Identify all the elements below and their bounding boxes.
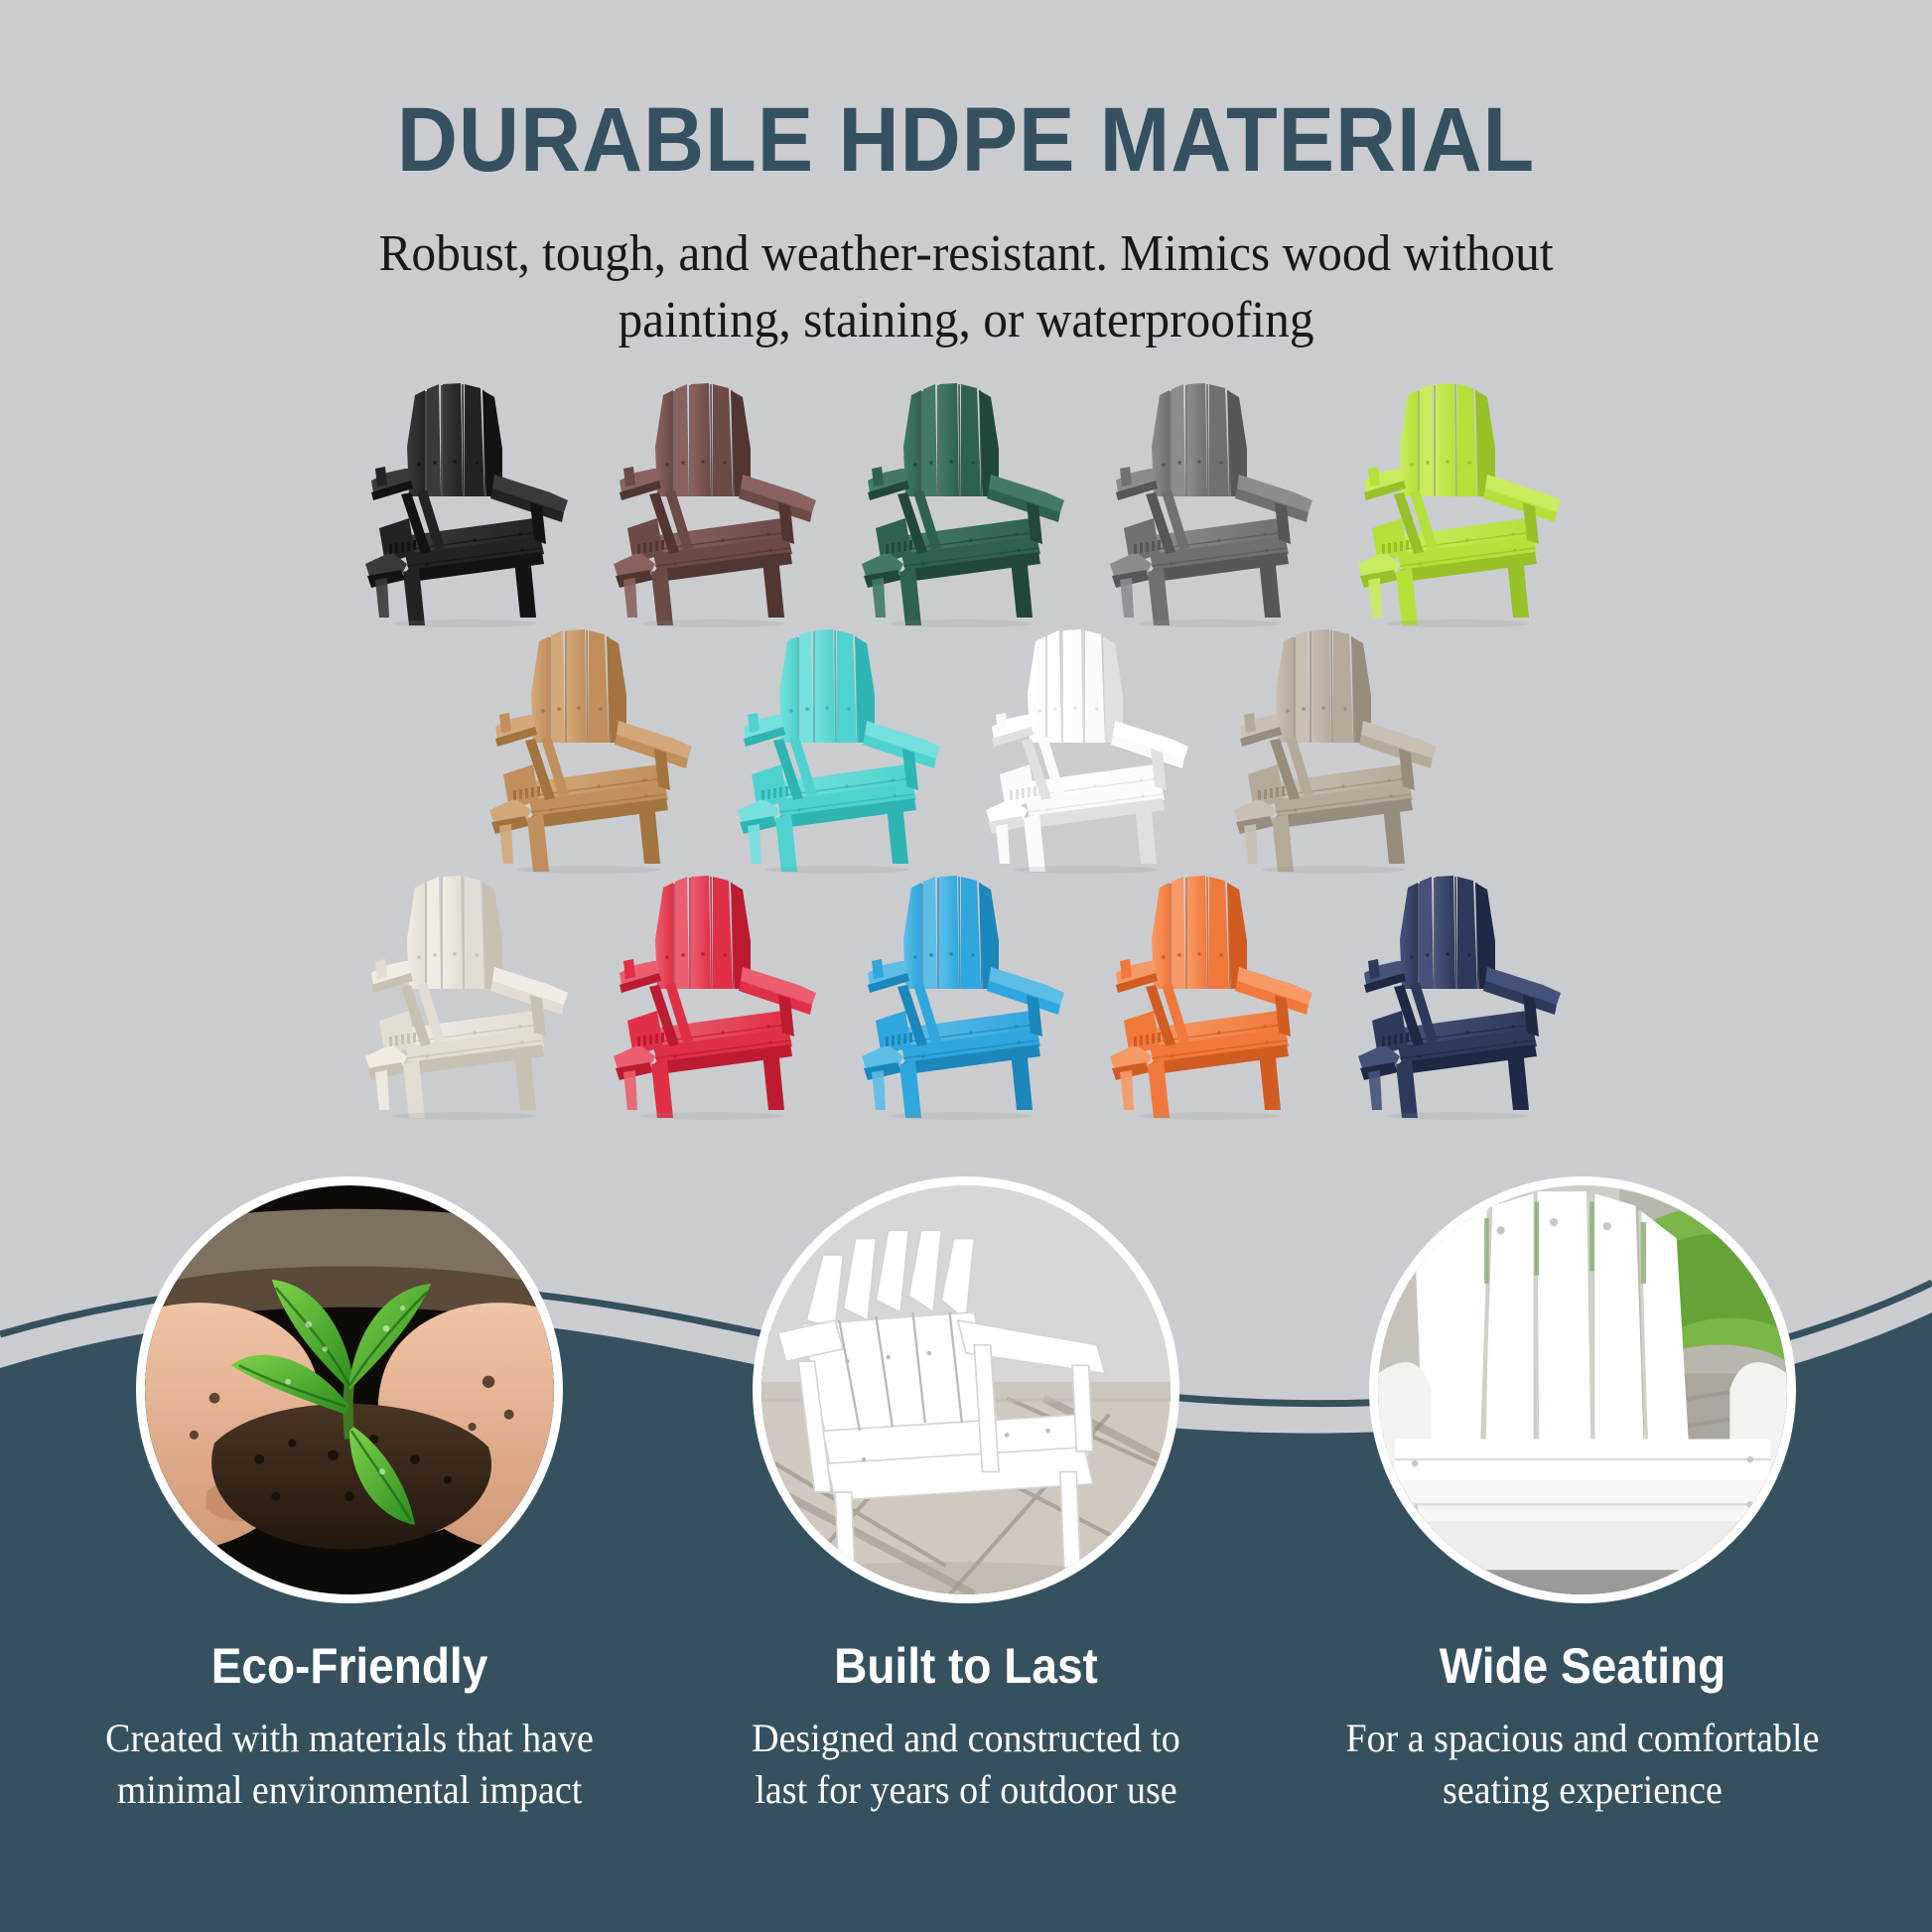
chair-swatch-blue[interactable] (842, 862, 1090, 1120)
feature-desc-line-2: minimal environmental impact (74, 1764, 625, 1816)
white-chair-on-patio-icon (761, 1185, 1171, 1594)
page-subtitle: Robust, tough, and weather-resistant. Mi… (339, 221, 1593, 353)
feature-title: Eco-Friendly (67, 1637, 632, 1695)
chair-swatch-teak[interactable] (470, 616, 718, 874)
chair-swatch-dark-brown[interactable] (594, 369, 842, 627)
feature-wide-seating: Wide Seating For a spacious and comforta… (1275, 1176, 1890, 1816)
chair-swatch-turquoise[interactable] (718, 616, 966, 874)
adirondack-chair-dark-brown (594, 369, 842, 627)
adirondack-chair-blue (842, 862, 1090, 1120)
feature-desc-line-1: Created with materials that have (74, 1713, 625, 1764)
header-block: DURABLE HDPE MATERIAL Robust, tough, and… (0, 0, 1932, 353)
chair-swatch-red[interactable] (594, 862, 842, 1120)
chair-color-row-1 (0, 369, 1932, 627)
adirondack-chair-weathered-wood (1214, 616, 1462, 874)
adirondack-chair-white (966, 616, 1214, 874)
feature-eco-friendly: Eco-Friendly Created with materials that… (42, 1176, 657, 1816)
chair-swatch-ivory[interactable] (345, 862, 594, 1120)
adirondack-chair-lime-green (1338, 369, 1587, 627)
feature-built-to-last: Built to Last Designed and constructed t… (658, 1176, 1274, 1816)
page-title: DURABLE HDPE MATERIAL (77, 94, 1855, 186)
chair-swatch-gray[interactable] (1090, 369, 1338, 627)
adirondack-chair-forest-green (842, 369, 1090, 627)
adirondack-chair-orange (1090, 862, 1338, 1120)
chair-swatch-orange[interactable] (1090, 862, 1338, 1120)
subtitle-line-1: Robust, tough, and weather-resistant. Mi… (339, 221, 1593, 288)
feature-description: Created with materials that have minimal… (58, 1713, 642, 1816)
feature-image-circle-seating (1369, 1176, 1796, 1603)
chair-swatch-white[interactable] (966, 616, 1214, 874)
adirondack-chair-black (345, 369, 594, 627)
feature-description: Designed and constructed to last for yea… (674, 1713, 1259, 1816)
adirondack-chair-turquoise (718, 616, 966, 874)
feature-title: Built to Last (683, 1637, 1249, 1695)
feature-desc-line-1: Designed and constructed to (691, 1713, 1242, 1764)
chair-swatch-lime-green[interactable] (1338, 369, 1587, 627)
feature-desc-line-1: For a spacious and comfortable (1308, 1713, 1859, 1764)
hands-holding-seedling-icon (145, 1185, 554, 1594)
adirondack-chair-teak (470, 616, 718, 874)
wide-seat-closeup-icon (1378, 1185, 1787, 1594)
infographic-canvas: DURABLE HDPE MATERIAL Robust, tough, and… (0, 0, 1932, 1932)
chair-swatch-forest-green[interactable] (842, 369, 1090, 627)
chair-color-row-2 (0, 616, 1932, 874)
adirondack-chair-red (594, 862, 842, 1120)
feature-image-circle-eco (136, 1176, 563, 1603)
chair-swatch-weathered-wood[interactable] (1214, 616, 1462, 874)
chair-swatch-black[interactable] (345, 369, 594, 627)
feature-image-circle-durability (753, 1176, 1179, 1603)
adirondack-chair-gray (1090, 369, 1338, 627)
feature-desc-line-2: last for years of outdoor use (691, 1764, 1242, 1816)
chair-swatch-navy-blue[interactable] (1338, 862, 1587, 1120)
adirondack-chair-ivory (345, 862, 594, 1120)
subtitle-line-2: painting, staining, or waterproofing (339, 288, 1593, 354)
feature-description: For a spacious and comfortable seating e… (1291, 1713, 1875, 1816)
chair-color-row-3 (0, 862, 1932, 1120)
adirondack-chair-navy-blue (1338, 862, 1587, 1120)
feature-title: Wide Seating (1300, 1637, 1865, 1695)
feature-desc-line-2: seating experience (1308, 1764, 1859, 1816)
